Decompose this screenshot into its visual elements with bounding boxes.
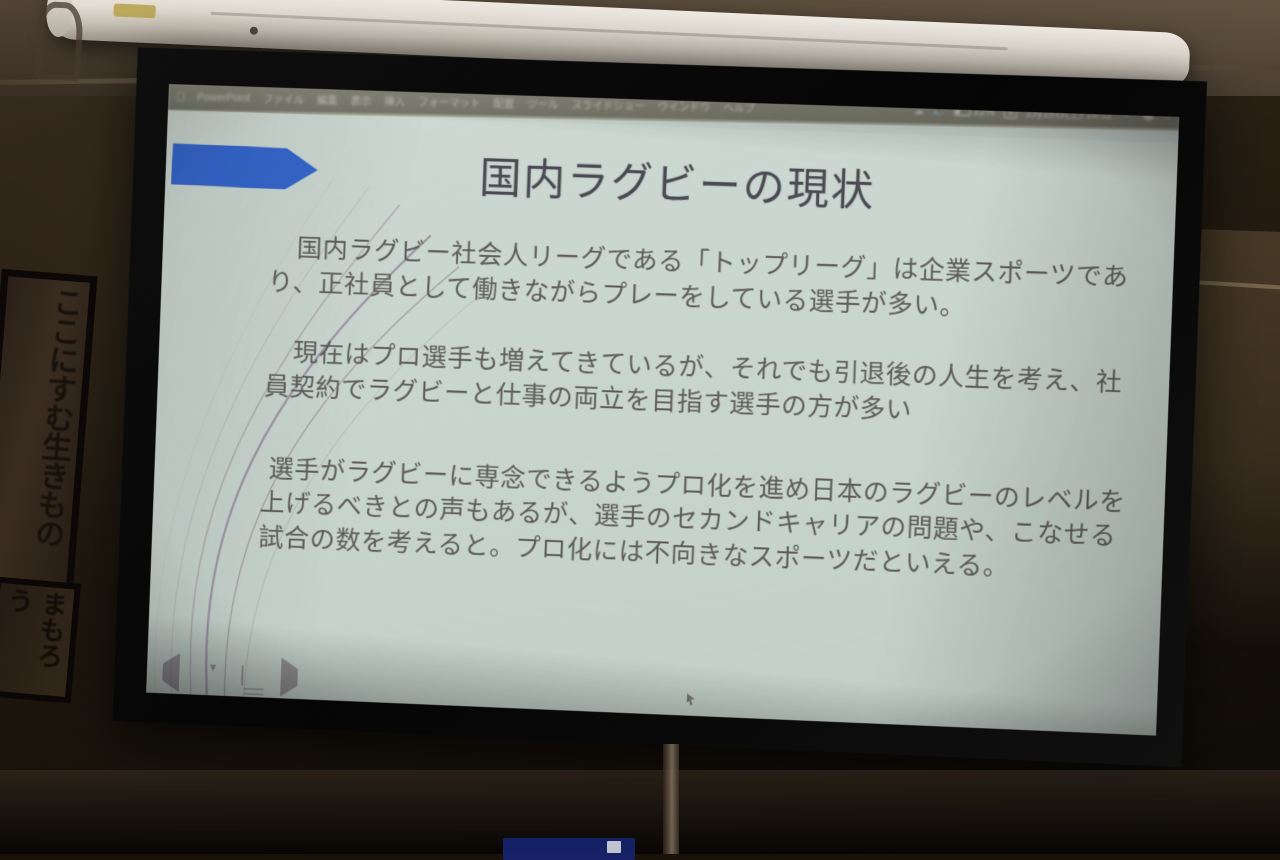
menu-item-tools[interactable]: ツール	[527, 96, 559, 112]
menu-item-arrange[interactable]: 配置	[493, 96, 514, 111]
wall-poster-secondary: まもろう	[0, 576, 81, 703]
foreground-blue-object	[503, 838, 635, 860]
wall-poster-secondary-text: まもろう	[0, 586, 71, 694]
pen-tool-button[interactable]	[201, 665, 227, 690]
next-slide-button[interactable]	[280, 668, 307, 693]
screen-surface:  PowerPoint ファイル 編集 表示 挿入 フォーマット 配置 ツール…	[146, 84, 1179, 736]
menu-item-window[interactable]: ウインドウ	[658, 99, 711, 115]
slide-menu-button[interactable]	[241, 667, 268, 692]
menu-bar-spacer	[768, 108, 914, 111]
menu-item-format[interactable]: フォーマット	[418, 94, 481, 110]
powerpoint-slide: 国内ラグビーの現状 国内ラグビー社会人リーグである「トップリーグ」は企業スポーツ…	[146, 110, 1178, 736]
menu-item-slideshow[interactable]: スライドショー	[571, 97, 645, 113]
menu-item-file[interactable]: ファイル	[262, 91, 304, 107]
roller-knob	[249, 27, 257, 35]
slide-paragraph-3: 選手がラグビーに専念できるようプロ化を進め日本のラグビーのレベルを上げるべきとの…	[258, 452, 1133, 590]
slide-paragraph-1: 国内ラグビー社会人リーグである「トップリーグ」は企業スポーツであり、正社員として…	[267, 230, 1141, 330]
mouse-cursor	[687, 694, 695, 706]
previous-slide-button[interactable]	[162, 664, 188, 689]
room-background: ここにすむ生きもの まもろう  PowerPoint ファイル 編集 表示 挿…	[0, 0, 1280, 854]
slide-paragraph-2: 現在はプロ選手も増えてきているが、それでも引退後の人生を考え、社員契約でラグビー…	[263, 335, 1137, 437]
menu-item-edit[interactable]: 編集	[317, 92, 338, 107]
roller-mount-bracket	[34, 1, 84, 81]
menu-item-insert[interactable]: 挿入	[384, 93, 405, 108]
roller-label	[113, 3, 156, 18]
menu-item-view[interactable]: 表示	[350, 93, 371, 108]
menu-item-app[interactable]: PowerPoint	[197, 91, 250, 104]
apple-logo-icon[interactable]: 	[176, 90, 185, 104]
screen-support-pole	[663, 744, 679, 854]
menu-item-help[interactable]: ヘルプ	[723, 100, 755, 116]
foreground-shadow	[0, 770, 1280, 854]
projection-screen:  PowerPoint ファイル 編集 表示 挿入 フォーマット 配置 ツール…	[113, 47, 1207, 767]
slide-body: 国内ラグビー社会人リーグである「トップリーグ」は企業スポーツであり、正社員として…	[256, 230, 1141, 626]
